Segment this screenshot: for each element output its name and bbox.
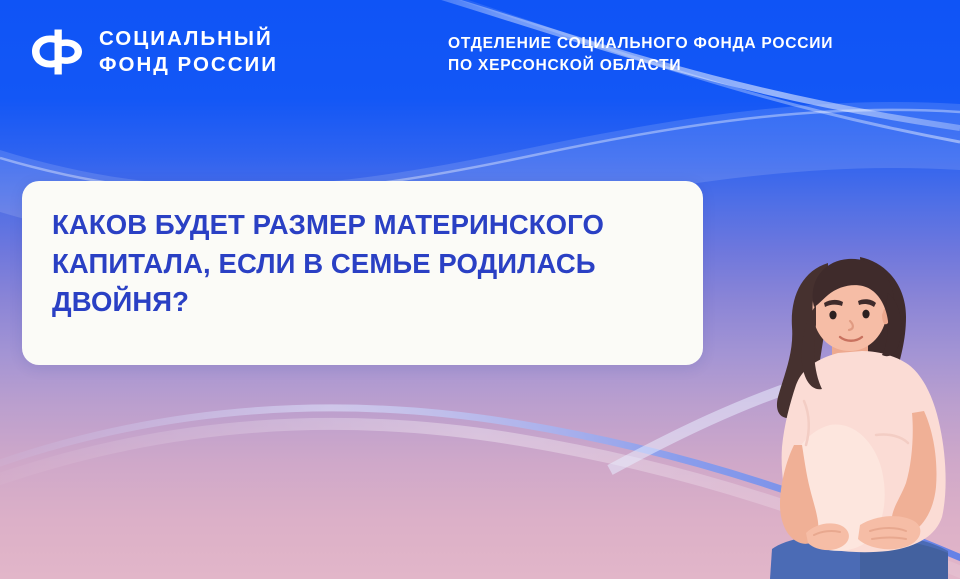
header: СОЦИАЛЬНЫЙ ФОНД РОССИИ ОТДЕЛЕНИЕ СОЦИАЛЬ… [0, 0, 960, 110]
face [813, 267, 888, 351]
shirt-fold [876, 434, 908, 443]
hand-left [806, 523, 849, 550]
hair-front [813, 259, 895, 321]
belly [787, 425, 885, 551]
eyebrow-left [824, 300, 843, 307]
jeans-shadow [860, 537, 948, 579]
hair-side-left [802, 305, 822, 389]
question-card: КАКОВ БУДЕТ РАЗМЕР МАТЕРИНСКОГО КАПИТАЛА… [22, 181, 703, 365]
hair-side-right [882, 293, 902, 356]
figure-backlight-streak [610, 384, 800, 470]
hair-back-left [777, 263, 828, 418]
hair-back-right [860, 257, 906, 397]
bottom-wave [0, 408, 960, 566]
hand-fingers-left [814, 531, 840, 535]
hand-fingers [870, 528, 906, 539]
neck [832, 337, 868, 371]
eye-right [862, 310, 869, 319]
eye-left [829, 311, 836, 320]
tshirt [782, 351, 946, 552]
poster-root: СОЦИАЛЬНЫЙ ФОНД РОССИИ ОТДЕЛЕНИЕ СОЦИАЛЬ… [0, 0, 960, 579]
arm-left [780, 445, 818, 544]
organization-title: ОТДЕЛЕНИЕ СОЦИАЛЬНОГО ФОНДА РОССИИ ПО ХЕ… [448, 33, 948, 76]
ear [882, 309, 891, 325]
question-headline: КАКОВ БУДЕТ РАЗМЕР МАТЕРИНСКОГО КАПИТАЛА… [52, 206, 692, 322]
shirt-fold-2 [804, 401, 809, 445]
eyebrow-right [858, 299, 876, 307]
mouth [840, 337, 862, 341]
sfr-monogram-icon [28, 29, 86, 75]
hand-right [858, 516, 920, 549]
pregnant-woman-illustration [710, 249, 960, 579]
brand-lockup: СОЦИАЛЬНЫЙ ФОНД РОССИИ [28, 26, 278, 78]
nose [849, 321, 853, 330]
arm-right [892, 411, 937, 534]
jeans [770, 533, 948, 579]
bottom-wave-glow [0, 424, 960, 579]
brand-name: СОЦИАЛЬНЫЙ ФОНД РОССИИ [99, 26, 278, 78]
